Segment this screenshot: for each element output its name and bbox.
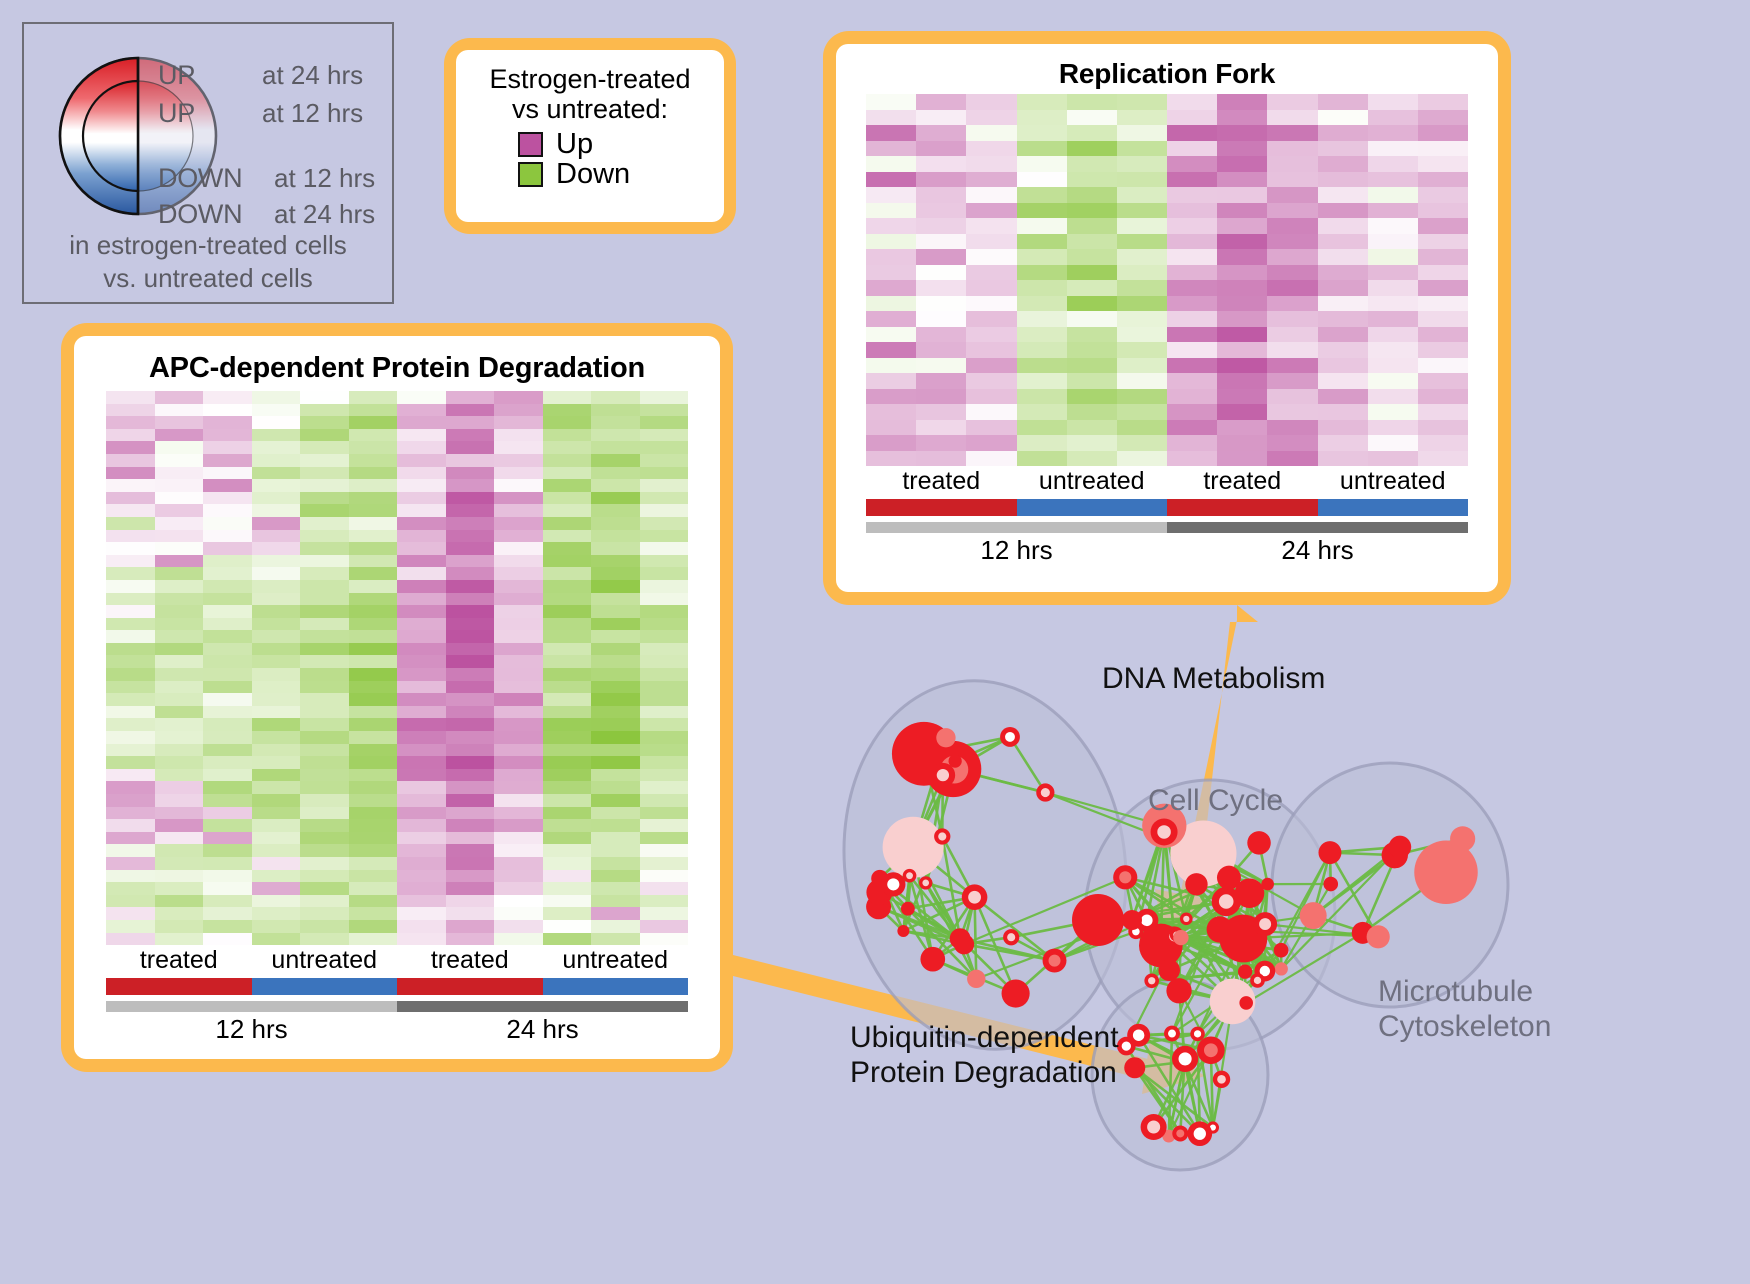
replication-fork-title: Replication Fork bbox=[836, 44, 1498, 90]
heatmap-cell bbox=[397, 630, 446, 643]
heatmap-cell bbox=[640, 731, 689, 744]
network-node-core bbox=[1194, 1030, 1201, 1037]
heatmap-cell bbox=[640, 429, 689, 442]
group-color-bar bbox=[1318, 499, 1469, 516]
heatmap-cell bbox=[349, 895, 398, 908]
heatmap-cell bbox=[866, 203, 916, 219]
replication-fork-time-labels: 12 hrs24 hrs bbox=[866, 535, 1468, 566]
heatmap-cell bbox=[543, 756, 592, 769]
heatmap-cell bbox=[349, 844, 398, 857]
heatmap-cell bbox=[155, 567, 204, 580]
heatmap-cell bbox=[1017, 311, 1067, 327]
heatmap-cell bbox=[1217, 358, 1267, 374]
heatmap-cell bbox=[106, 731, 155, 744]
heatmap-cell bbox=[494, 618, 543, 631]
heatmap-cell bbox=[640, 643, 689, 656]
heatmap-cell bbox=[543, 781, 592, 794]
heatmap-cell bbox=[966, 110, 1016, 126]
network-node-core bbox=[1204, 1043, 1218, 1057]
heatmap-cell bbox=[397, 391, 446, 404]
heatmap-cell bbox=[494, 567, 543, 580]
heatmap-cell bbox=[1167, 125, 1217, 141]
heatmap-cell bbox=[1117, 311, 1167, 327]
heatmap-cell bbox=[349, 832, 398, 845]
heatmap-cell bbox=[1318, 265, 1368, 281]
heatmap-cell bbox=[446, 630, 495, 643]
heatmap-cell bbox=[1368, 125, 1418, 141]
heatmap-cell bbox=[866, 249, 916, 265]
heatmap-cell bbox=[446, 756, 495, 769]
heatmap-cell bbox=[1117, 404, 1167, 420]
heatmap-cell bbox=[1267, 187, 1317, 203]
network-node bbox=[1367, 925, 1390, 948]
heatmap-cell bbox=[446, 530, 495, 543]
heatmap-cell bbox=[1017, 172, 1067, 188]
heatmap-cell bbox=[1318, 218, 1368, 234]
heatmap-cell bbox=[300, 643, 349, 656]
heatmap-cell bbox=[543, 429, 592, 442]
heatmap-cell bbox=[203, 832, 252, 845]
heatmap-cell bbox=[916, 358, 966, 374]
heatmap-cell bbox=[543, 643, 592, 656]
heatmap-cell bbox=[591, 832, 640, 845]
heatmap-cell bbox=[494, 391, 543, 404]
heatmap-cell bbox=[106, 706, 155, 719]
heatmap-cell bbox=[397, 706, 446, 719]
network-node-core bbox=[1119, 871, 1131, 883]
heatmap-cell bbox=[543, 769, 592, 782]
heatmap-cell bbox=[203, 718, 252, 731]
heatmap-cell bbox=[494, 530, 543, 543]
heatmap-cell bbox=[494, 655, 543, 668]
heatmap-cell bbox=[252, 832, 301, 845]
heatmap-cell bbox=[349, 492, 398, 505]
heatmap-cell bbox=[155, 769, 204, 782]
heatmap-cell bbox=[203, 593, 252, 606]
group-label: treated bbox=[397, 945, 543, 975]
wheel-ring-time-down24: at 24 hrs bbox=[274, 199, 375, 230]
heatmap-cell bbox=[640, 618, 689, 631]
heatmap-cell bbox=[1318, 451, 1368, 467]
heatmap-cell bbox=[591, 504, 640, 517]
network-node bbox=[1207, 916, 1233, 942]
heatmap-cell bbox=[494, 454, 543, 467]
heatmap-cell bbox=[1017, 373, 1067, 389]
heatmap-cell bbox=[252, 706, 301, 719]
heatmap-cell bbox=[866, 296, 916, 312]
heatmap-cell bbox=[591, 756, 640, 769]
heatmap-cell bbox=[1167, 94, 1217, 110]
heatmap-cell bbox=[1418, 125, 1468, 141]
heatmap-cell bbox=[966, 156, 1016, 172]
wheel-ring-label-up12: UP bbox=[158, 98, 195, 129]
replication-fork-group-labels: treateduntreatedtreateduntreated bbox=[866, 466, 1468, 496]
heatmap-cell bbox=[1067, 389, 1117, 405]
heatmap-cell bbox=[252, 630, 301, 643]
heatmap-cell bbox=[543, 454, 592, 467]
heatmap-cell bbox=[1318, 156, 1368, 172]
group-label: untreated bbox=[543, 945, 689, 975]
heatmap-cell bbox=[300, 718, 349, 731]
heatmap-cell bbox=[591, 870, 640, 883]
network-node-core bbox=[1179, 1052, 1192, 1065]
heatmap-cell bbox=[106, 429, 155, 442]
heatmap-cell bbox=[916, 187, 966, 203]
heatmap-cell bbox=[543, 580, 592, 593]
network-node-core bbox=[1259, 918, 1271, 930]
heatmap-cell bbox=[1117, 156, 1167, 172]
network-node bbox=[936, 728, 955, 747]
group-label: treated bbox=[106, 945, 252, 975]
heatmap-cell bbox=[1318, 249, 1368, 265]
heatmap-cell bbox=[494, 933, 543, 946]
heatmap-cell bbox=[543, 668, 592, 681]
heatmap-cell bbox=[446, 542, 495, 555]
heatmap-cell bbox=[446, 655, 495, 668]
heatmap-cell bbox=[866, 404, 916, 420]
heatmap-cell bbox=[300, 706, 349, 719]
heatmap-cell bbox=[349, 718, 398, 731]
heatmap-cell bbox=[640, 920, 689, 933]
heatmap-cell bbox=[916, 451, 966, 467]
heatmap-cell bbox=[494, 630, 543, 643]
heatmap-cell bbox=[1217, 172, 1267, 188]
heatmap-cell bbox=[397, 593, 446, 606]
heatmap-cell bbox=[446, 668, 495, 681]
heatmap-cell bbox=[300, 781, 349, 794]
network-node bbox=[967, 970, 985, 988]
heatmap-cell bbox=[916, 125, 966, 141]
heatmap-cell bbox=[1217, 342, 1267, 358]
heatmap-cell bbox=[591, 555, 640, 568]
heatmap-cell bbox=[543, 391, 592, 404]
heatmap-cell bbox=[1117, 94, 1167, 110]
heatmap-cell bbox=[397, 643, 446, 656]
heatmap-cell bbox=[640, 517, 689, 530]
heatmap-cell bbox=[1418, 94, 1468, 110]
group-color-bar bbox=[543, 978, 689, 995]
heatmap-cell bbox=[866, 435, 916, 451]
apc-degradation-card: APC-dependent Protein Degradation treate… bbox=[61, 323, 733, 1072]
heatmap-cell bbox=[397, 832, 446, 845]
heatmap-cell bbox=[1318, 296, 1368, 312]
network-node-core bbox=[906, 872, 913, 879]
heatmap-cell bbox=[106, 517, 155, 530]
heatmap-cell bbox=[203, 618, 252, 631]
heatmap-cell bbox=[1017, 110, 1067, 126]
heatmap-cell bbox=[349, 593, 398, 606]
heatmap-cell bbox=[866, 94, 916, 110]
network-node bbox=[954, 934, 974, 954]
heatmap-cell bbox=[1067, 358, 1117, 374]
colour-wheel-legend: UP at 24 hrs UP at 12 hrs DOWN at 12 hrs… bbox=[22, 22, 394, 304]
heatmap-cell bbox=[1368, 156, 1418, 172]
heatmap-cell bbox=[591, 492, 640, 505]
network-node bbox=[1122, 910, 1142, 930]
replication-fork-heatmap bbox=[866, 94, 1468, 466]
heatmap-cell bbox=[1217, 265, 1267, 281]
heatmap-cell bbox=[1167, 234, 1217, 250]
heatmap-cell bbox=[1017, 141, 1067, 157]
heatmap-cell bbox=[446, 492, 495, 505]
heatmap-cell bbox=[300, 895, 349, 908]
heatmap-cell bbox=[1368, 435, 1418, 451]
heatmap-cell bbox=[300, 542, 349, 555]
heatmap-cell bbox=[446, 416, 495, 429]
heatmap-cell bbox=[1267, 234, 1317, 250]
group-label: untreated bbox=[1318, 466, 1469, 496]
heatmap-cell bbox=[1368, 203, 1418, 219]
heatmap-cell bbox=[640, 555, 689, 568]
heatmap-cell bbox=[446, 504, 495, 517]
heatmap-cell bbox=[349, 643, 398, 656]
heatmap-cell bbox=[106, 681, 155, 694]
heatmap-cell bbox=[252, 655, 301, 668]
heatmap-cell bbox=[349, 668, 398, 681]
heatmap-cell bbox=[640, 870, 689, 883]
heatmap-cell bbox=[446, 933, 495, 946]
heatmap-cell bbox=[640, 794, 689, 807]
heatmap-cell bbox=[349, 706, 398, 719]
heatmap-cell bbox=[252, 807, 301, 820]
heatmap-cell bbox=[252, 504, 301, 517]
heatmap-cell bbox=[1418, 451, 1468, 467]
heatmap-cell bbox=[494, 467, 543, 480]
heatmap-cell bbox=[252, 681, 301, 694]
heatmap-cell bbox=[300, 844, 349, 857]
heatmap-cell bbox=[1117, 249, 1167, 265]
heatmap-cell bbox=[1318, 389, 1368, 405]
heatmap-cell bbox=[966, 265, 1016, 281]
heatmap-cell bbox=[203, 467, 252, 480]
heatmap-cell bbox=[252, 416, 301, 429]
heatmap-cell bbox=[640, 467, 689, 480]
heatmap-cell bbox=[252, 794, 301, 807]
heatmap-cell bbox=[1217, 187, 1267, 203]
heatmap-cell bbox=[866, 327, 916, 343]
heatmap-cell bbox=[446, 781, 495, 794]
heatmap-cell bbox=[543, 895, 592, 908]
heatmap-cell bbox=[349, 920, 398, 933]
heatmap-cell bbox=[543, 718, 592, 731]
heatmap-cell bbox=[349, 454, 398, 467]
heatmap-cell bbox=[1318, 141, 1368, 157]
heatmap-cell bbox=[1418, 203, 1468, 219]
heatmap-cell bbox=[203, 920, 252, 933]
heatmap-cell bbox=[543, 605, 592, 618]
heatmap-cell bbox=[1267, 280, 1317, 296]
heatmap-cell bbox=[203, 416, 252, 429]
heatmap-cell bbox=[1217, 203, 1267, 219]
heatmap-cell bbox=[446, 857, 495, 870]
heatmap-cell bbox=[591, 920, 640, 933]
heatmap-cell bbox=[1267, 420, 1317, 436]
heatmap-cell bbox=[397, 907, 446, 920]
network-node bbox=[1318, 841, 1341, 864]
heatmap-cell bbox=[1167, 172, 1217, 188]
heatmap-cell bbox=[446, 895, 495, 908]
group-color-bar bbox=[1167, 499, 1318, 516]
heatmap-cell bbox=[966, 373, 1016, 389]
heatmap-cell bbox=[1167, 141, 1217, 157]
heatmap-cell bbox=[397, 807, 446, 820]
heatmap-cell bbox=[106, 819, 155, 832]
heatmap-cell bbox=[543, 542, 592, 555]
heatmap-cell bbox=[155, 605, 204, 618]
heatmap-cell bbox=[397, 454, 446, 467]
network-node bbox=[1002, 979, 1030, 1007]
heatmap-cell bbox=[106, 769, 155, 782]
heatmap-cell bbox=[1267, 451, 1317, 467]
network-node bbox=[897, 925, 909, 937]
heatmap-cell bbox=[1067, 327, 1117, 343]
heatmap-cell bbox=[252, 933, 301, 946]
network-node-core bbox=[1219, 894, 1234, 909]
network-node bbox=[1239, 996, 1253, 1010]
heatmap-cell bbox=[252, 907, 301, 920]
heatmap-cell bbox=[640, 756, 689, 769]
heatmap-cell bbox=[1368, 373, 1418, 389]
heatmap-cell bbox=[866, 265, 916, 281]
heatmap-cell bbox=[640, 781, 689, 794]
heatmap-cell bbox=[591, 718, 640, 731]
heatmap-cell bbox=[640, 895, 689, 908]
heatmap-cell bbox=[640, 857, 689, 870]
heatmap-cell bbox=[106, 895, 155, 908]
heatmap-cell bbox=[203, 404, 252, 417]
heatmap-cell bbox=[155, 618, 204, 631]
heatmap-cell bbox=[203, 655, 252, 668]
heatmap-cell bbox=[494, 593, 543, 606]
heatmap-cell bbox=[543, 567, 592, 580]
heatmap-cell bbox=[155, 807, 204, 820]
heatmap-cell bbox=[966, 311, 1016, 327]
heatmap-cell bbox=[349, 504, 398, 517]
heatmap-cell bbox=[494, 857, 543, 870]
heatmap-cell bbox=[1217, 94, 1267, 110]
heatmap-cell bbox=[1017, 358, 1067, 374]
heatmap-cell bbox=[397, 794, 446, 807]
heatmap-cell bbox=[866, 420, 916, 436]
heatmap-cell bbox=[252, 693, 301, 706]
up-swatch-icon bbox=[518, 132, 543, 157]
heatmap-cell bbox=[640, 819, 689, 832]
heatmap-cell bbox=[966, 435, 1016, 451]
heatmap-cell bbox=[1167, 435, 1217, 451]
heatmap-cell bbox=[446, 870, 495, 883]
heatmap-cell bbox=[1167, 203, 1217, 219]
heatmap-cell bbox=[1368, 187, 1418, 203]
time-color-bar bbox=[1167, 522, 1468, 533]
heatmap-cell bbox=[916, 265, 966, 281]
heatmap-cell bbox=[866, 172, 916, 188]
heatmap-cell bbox=[155, 630, 204, 643]
heatmap-cell bbox=[446, 467, 495, 480]
network-node-core bbox=[887, 878, 899, 890]
heatmap-cell bbox=[591, 731, 640, 744]
heatmap-cell bbox=[591, 681, 640, 694]
heatmap-cell bbox=[1267, 296, 1317, 312]
heatmap-cell bbox=[155, 718, 204, 731]
heatmap-cell bbox=[155, 542, 204, 555]
heatmap-cell bbox=[397, 492, 446, 505]
time-label: 12 hrs bbox=[106, 1014, 397, 1045]
heatmap-cell bbox=[1117, 373, 1167, 389]
heatmap-cell bbox=[1217, 280, 1267, 296]
heatmap-cell bbox=[591, 618, 640, 631]
heatmap-cell bbox=[640, 530, 689, 543]
heatmap-cell bbox=[494, 832, 543, 845]
heatmap-cell bbox=[349, 744, 398, 757]
heatmap-cell bbox=[446, 920, 495, 933]
heatmap-cell bbox=[966, 203, 1016, 219]
heatmap-cell bbox=[106, 693, 155, 706]
heatmap-cell bbox=[640, 706, 689, 719]
heatmap-cell bbox=[640, 391, 689, 404]
heatmap-cell bbox=[640, 882, 689, 895]
group-color-bar bbox=[106, 978, 252, 995]
heatmap-cell bbox=[446, 718, 495, 731]
heatmap-cell bbox=[1067, 156, 1117, 172]
heatmap-cell bbox=[543, 681, 592, 694]
network-node bbox=[901, 902, 915, 916]
heatmap-cell bbox=[916, 94, 966, 110]
heatmap-cell bbox=[252, 530, 301, 543]
network-node-core bbox=[1194, 1128, 1206, 1140]
heatmap-cell bbox=[106, 643, 155, 656]
heatmap-cell bbox=[1418, 327, 1468, 343]
heatmap-cell bbox=[300, 605, 349, 618]
heatmap-cell bbox=[640, 693, 689, 706]
heatmap-cell bbox=[494, 895, 543, 908]
heatmap-cell bbox=[640, 580, 689, 593]
heatmap-cell bbox=[252, 882, 301, 895]
cluster-label-cell-cycle: Cell Cycle bbox=[1148, 784, 1283, 818]
network-node bbox=[949, 754, 962, 767]
heatmap-cell bbox=[203, 530, 252, 543]
heatmap-cell bbox=[252, 479, 301, 492]
heatmap-cell bbox=[543, 706, 592, 719]
network-node-core bbox=[938, 832, 946, 840]
heatmap-cell bbox=[252, 593, 301, 606]
heatmap-cell bbox=[916, 420, 966, 436]
heatmap-cell bbox=[397, 467, 446, 480]
group-color-bar bbox=[397, 978, 543, 995]
key-item-up: Up bbox=[518, 130, 708, 159]
wheel-footer-line1: in estrogen-treated cells bbox=[24, 229, 392, 262]
heatmap-cell bbox=[1318, 420, 1368, 436]
heatmap-cell bbox=[252, 756, 301, 769]
network-node-core bbox=[1122, 1041, 1131, 1050]
heatmap-cell bbox=[300, 530, 349, 543]
heatmap-cell bbox=[916, 249, 966, 265]
heatmap-cell bbox=[349, 756, 398, 769]
heatmap-cell bbox=[966, 218, 1016, 234]
heatmap-cell bbox=[966, 125, 1016, 141]
heatmap-cell bbox=[866, 342, 916, 358]
heatmap-cell bbox=[397, 731, 446, 744]
heatmap-cell bbox=[1267, 156, 1317, 172]
heatmap-cell bbox=[106, 832, 155, 845]
network-node bbox=[1124, 1057, 1145, 1078]
heatmap-cell bbox=[349, 580, 398, 593]
heatmap-cell bbox=[155, 441, 204, 454]
heatmap-cell bbox=[106, 794, 155, 807]
heatmap-cell bbox=[300, 454, 349, 467]
heatmap-cell bbox=[397, 567, 446, 580]
heatmap-cell bbox=[397, 744, 446, 757]
heatmap-cell bbox=[1418, 404, 1468, 420]
